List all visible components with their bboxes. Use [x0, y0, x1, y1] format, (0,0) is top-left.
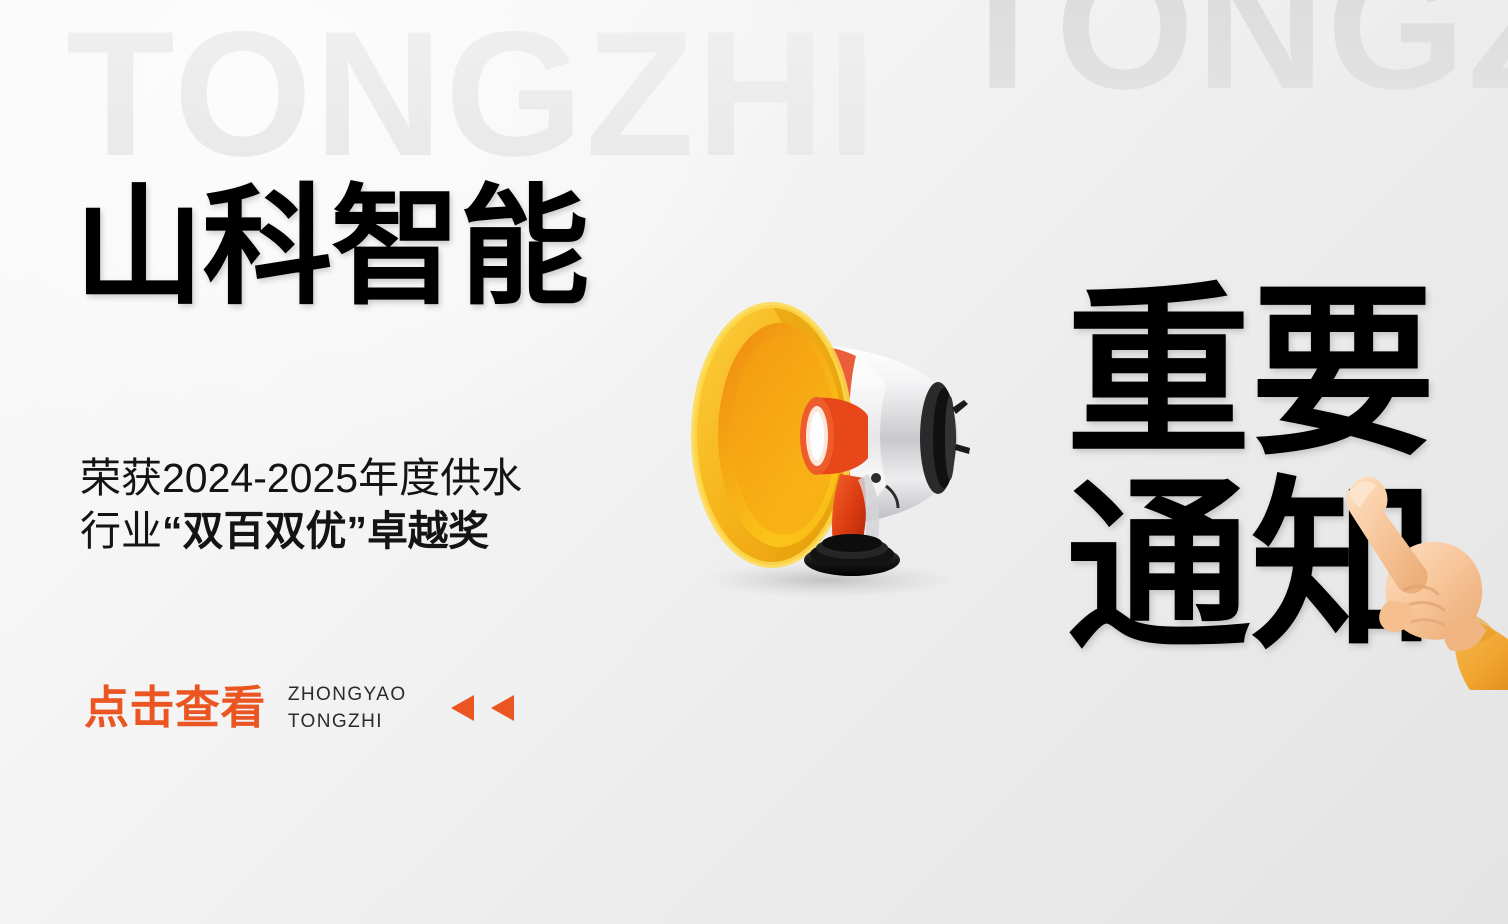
arrow-group — [451, 695, 514, 721]
cta-pinyin-line-1: ZHONGYAO — [288, 684, 407, 705]
subtitle-line-2: 行业“双百双优”卓越奖 — [80, 505, 640, 558]
subtitle-line-2-prefix: 行业 — [80, 508, 162, 554]
subtitle-line-2-quoted: “双百双优” — [162, 508, 367, 554]
triangle-left-icon — [451, 695, 474, 721]
megaphone-icon — [612, 268, 1032, 598]
cta-pinyin-line-2: TONGZHI — [288, 711, 383, 732]
notice-line-1: 重要 — [1066, 288, 1435, 460]
watermark-tongzhi-main: TONGZHI — [66, 5, 879, 183]
cta-pinyin: ZHONGYAO TONGZHI — [288, 682, 407, 736]
watermark-tongzhi-top-right: TONGZHI — [948, 0, 1508, 116]
page-title: 山科智能 — [74, 182, 588, 312]
view-details-link[interactable]: 点击查看 — [84, 685, 266, 730]
pointing-hand-icon — [1330, 470, 1508, 690]
notice-banner: TONGZHI TONGZHI 山科智能 荣获2024-2025年度供水 行业“… — [0, 0, 1508, 924]
subtitle-line-2-suffix: 卓越奖 — [367, 508, 489, 554]
triangle-left-icon — [491, 695, 514, 721]
subtitle: 荣获2024-2025年度供水 行业“双百双优”卓越奖 — [80, 452, 640, 559]
subtitle-line-1: 荣获2024-2025年度供水 — [80, 452, 640, 505]
cta-row[interactable]: 点击查看 ZHONGYAO TONGZHI — [84, 680, 514, 736]
